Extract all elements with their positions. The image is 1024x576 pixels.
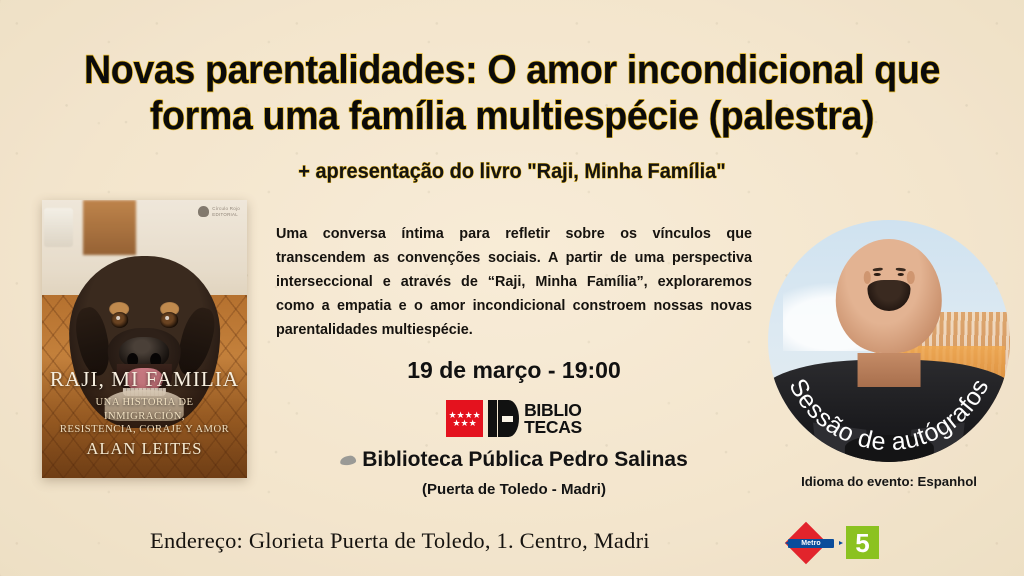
language-note: Idioma do evento: Espanhol xyxy=(768,474,1010,489)
book-title: RAJI, MI FAMILIA xyxy=(42,367,247,392)
bibliotecas-logo: ★★★★ ★★★ BIBLIO TECAS xyxy=(276,400,752,437)
subtitle: + apresentação do livro "Raji, Minha Fam… xyxy=(54,160,970,184)
b-stem xyxy=(488,400,497,437)
book-subtitle-line-1: UNA HISTORIA DE INMIGRACIÓN, xyxy=(54,396,234,423)
publisher-name: Círculo Rojo xyxy=(212,206,240,212)
madrid-flag-icon: ★★★★ ★★★ xyxy=(446,400,483,437)
bibliotecas-line-1: BIBLIO xyxy=(524,402,582,419)
curved-badge-text: Sessão de autógrafos xyxy=(768,220,1010,462)
venue-name: Biblioteca Pública Pedro Salinas xyxy=(276,448,752,472)
headline-line-2: forma uma família multiespécie (palestra… xyxy=(59,94,965,140)
bibliotecas-wordmark: BIBLIO TECAS xyxy=(524,402,582,436)
book-subtitle: UNA HISTORIA DE INMIGRACIÓN, RESISTENCIA… xyxy=(54,396,234,437)
book-cover-image: Círculo Rojo EDITORIAL RAJI, MI FAMILIA … xyxy=(42,200,247,478)
location-pin-icon xyxy=(340,454,357,465)
publisher-logo: Círculo Rojo EDITORIAL xyxy=(198,206,240,217)
venue-subtext: (Puerta de Toledo - Madri) xyxy=(276,481,752,498)
date-time: 19 de março - 19:00 xyxy=(276,357,752,384)
curved-text-sessao: Sessão de autógrafos xyxy=(783,374,994,456)
metro-wordmark-text: Metro xyxy=(801,540,821,547)
metro-wordmark-bar: Metro xyxy=(788,539,834,549)
venue-name-text: Biblioteca Pública Pedro Salinas xyxy=(362,448,688,472)
bibliotecas-line-2: TECAS xyxy=(524,419,582,436)
circulo-rojo-icon xyxy=(198,206,209,217)
description-paragraph: Uma conversa íntima para refletir sobre … xyxy=(276,222,752,342)
madrid-stars-row-2: ★★★ xyxy=(446,419,483,428)
book-author: ALAN LEITES xyxy=(42,439,247,459)
page-title: Novas parentalidades: O amor incondicion… xyxy=(59,48,965,139)
event-poster: Novas parentalidades: O amor incondicion… xyxy=(0,0,1024,576)
bibliotecas-b-icon xyxy=(488,400,519,437)
b-notch xyxy=(502,416,513,422)
headline-line-1: Novas parentalidades: O amor incondicion… xyxy=(59,48,965,94)
publisher-text: Círculo Rojo EDITORIAL xyxy=(212,206,240,217)
metro-madrid-icon: Metro xyxy=(788,528,840,558)
book-subtitle-line-2: RESISTENCIA, CORAJE Y AMOR xyxy=(54,423,234,437)
publisher-tagline: EDITORIAL xyxy=(212,212,240,218)
metro-tip-right xyxy=(839,541,843,545)
metro-line-number: 5 xyxy=(855,530,869,556)
metro-line-5-badge: 5 xyxy=(846,526,879,559)
address-line: Endereço: Glorieta Puerta de Toledo, 1. … xyxy=(150,528,650,554)
speaker-photo-badge: Sessão de autógrafos xyxy=(768,220,1010,462)
